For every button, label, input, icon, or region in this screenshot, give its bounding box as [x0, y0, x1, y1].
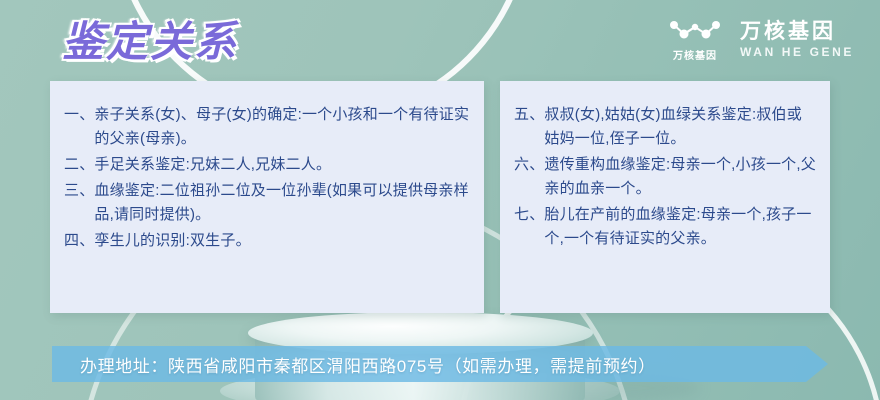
- list-item: 七、 胎儿在产前的血缘鉴定:母亲一个,孩子一个,一个有待证实的父亲。: [514, 203, 816, 251]
- list-item-number: 一、: [64, 103, 94, 127]
- list-item-text: 叔叔(女),姑姑(女)血绿关系鉴定:叔伯或姑妈一位,侄子一位。: [544, 103, 816, 151]
- address-text: 办理地址：陕西省咸阳市秦都区渭阳西路075号（如需办理，需提前预约）: [52, 352, 656, 377]
- list-item-number: 五、: [514, 103, 544, 127]
- relationship-list-panel-left: 一、 亲子关系(女)、母子(女)的确定:一个小孩和一个有待证实的父亲(母亲)。 …: [50, 81, 484, 313]
- brand-mark: 万核基因: [668, 18, 722, 62]
- address-bar: 办理地址：陕西省咸阳市秦都区渭阳西路075号（如需办理，需提前预约）: [52, 346, 828, 382]
- list-item-number: 三、: [64, 179, 94, 203]
- list-item-text: 血缘鉴定:二位祖孙二位及一位孙辈(如果可以提供母亲样品,请同时提供)。: [94, 179, 470, 227]
- list-item: 二、 手足关系鉴定:兄妹二人,兄妹二人。: [64, 153, 470, 177]
- list-item-number: 二、: [64, 153, 94, 177]
- list-item: 四、 孪生儿的识别:双生子。: [64, 229, 470, 253]
- molecule-node-icon: [668, 18, 722, 44]
- list-item-number: 四、: [64, 229, 94, 253]
- list-item: 五、 叔叔(女),姑姑(女)血绿关系鉴定:叔伯或姑妈一位,侄子一位。: [514, 103, 816, 151]
- page-title: 鉴定关系: [62, 8, 238, 69]
- list-item: 一、 亲子关系(女)、母子(女)的确定:一个小孩和一个有待证实的父亲(母亲)。: [64, 103, 470, 151]
- brand-mark-caption: 万核基因: [673, 47, 717, 62]
- brand-logo: 万核基因 万核基因 WAN HE GENE: [668, 18, 854, 62]
- brand-name-cn: 万核基因: [740, 21, 854, 43]
- list-item: 六、 遗传重构血缘鉴定:母亲一个,小孩一个,父亲的血亲一个。: [514, 153, 816, 201]
- list-item-text: 手足关系鉴定:兄妹二人,兄妹二人。: [94, 153, 470, 177]
- poster-canvas: 鉴定关系 万核基因: [0, 0, 880, 400]
- relationship-list-right: 五、 叔叔(女),姑姑(女)血绿关系鉴定:叔伯或姑妈一位,侄子一位。 六、 遗传…: [514, 103, 816, 251]
- list-item-text: 孪生儿的识别:双生子。: [94, 229, 470, 253]
- relationship-list-left: 一、 亲子关系(女)、母子(女)的确定:一个小孩和一个有待证实的父亲(母亲)。 …: [64, 103, 470, 253]
- relationship-list-panel-right: 五、 叔叔(女),姑姑(女)血绿关系鉴定:叔伯或姑妈一位,侄子一位。 六、 遗传…: [500, 81, 830, 313]
- list-item-number: 七、: [514, 203, 544, 227]
- brand-name-en: WAN HE GENE: [740, 45, 854, 59]
- brand-wordmark: 万核基因 WAN HE GENE: [740, 21, 854, 59]
- list-item-text: 遗传重构血缘鉴定:母亲一个,小孩一个,父亲的血亲一个。: [544, 153, 816, 201]
- list-item: 三、 血缘鉴定:二位祖孙二位及一位孙辈(如果可以提供母亲样品,请同时提供)。: [64, 179, 470, 227]
- list-item-text: 亲子关系(女)、母子(女)的确定:一个小孩和一个有待证实的父亲(母亲)。: [94, 103, 470, 151]
- list-item-text: 胎儿在产前的血缘鉴定:母亲一个,孩子一个,一个有待证实的父亲。: [544, 203, 816, 251]
- list-item-number: 六、: [514, 153, 544, 177]
